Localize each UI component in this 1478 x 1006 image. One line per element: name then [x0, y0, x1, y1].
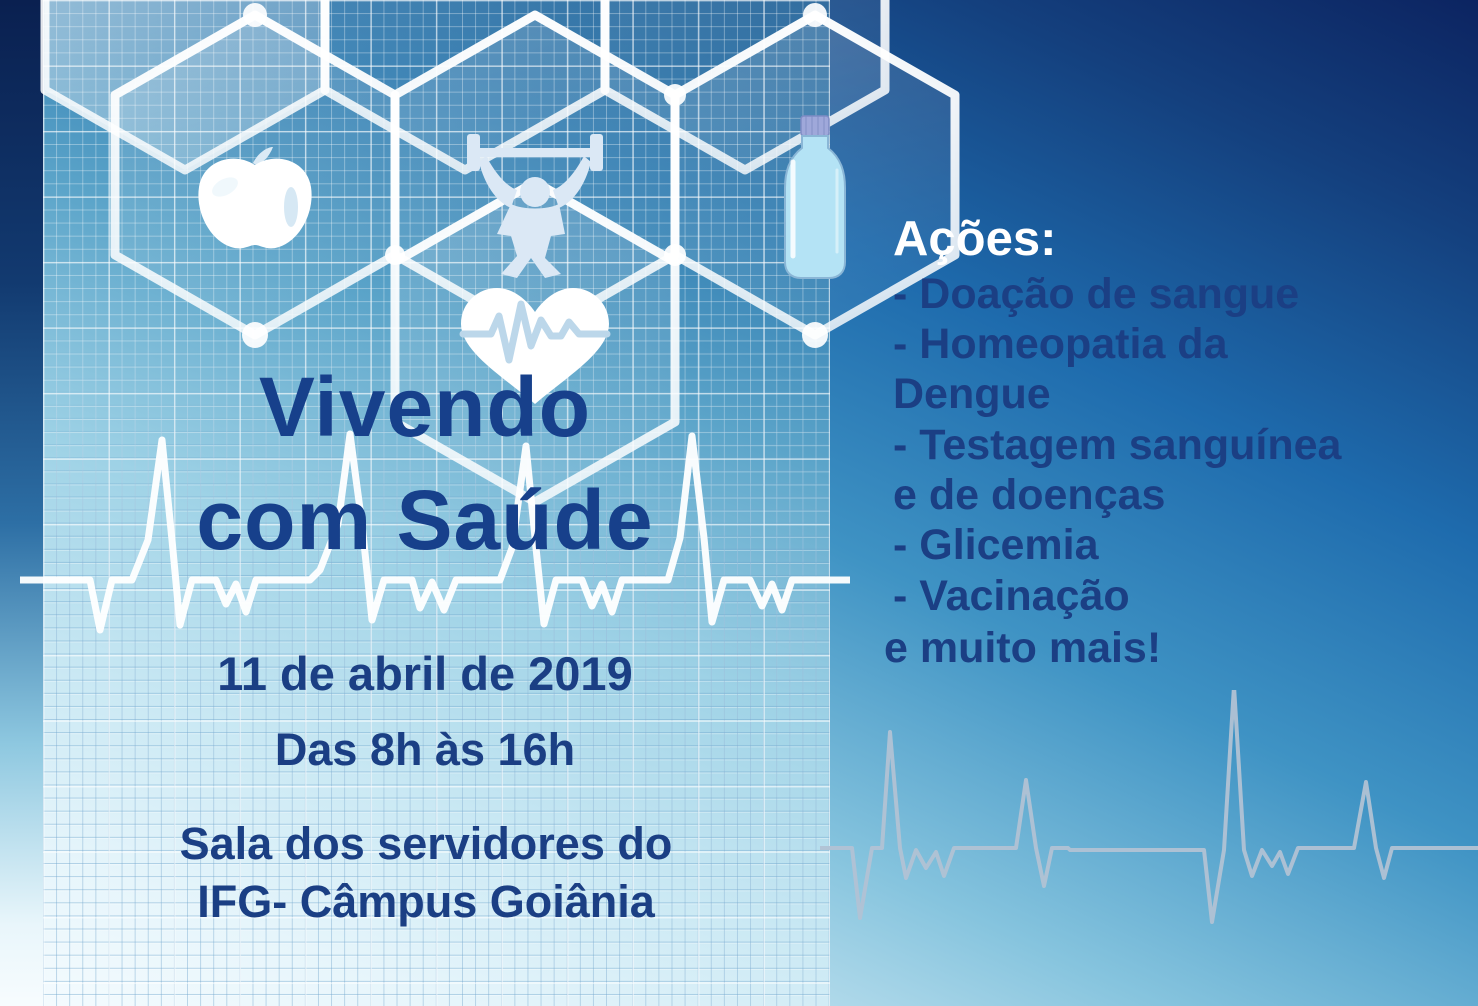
title-line-1: Vivendo: [60, 348, 790, 467]
location-line-2: IFG- Câmpus Goiânia: [56, 873, 796, 931]
ecg-waveform-right: [820, 690, 1478, 980]
event-date: 11 de abril de 2019: [60, 648, 790, 701]
location-line-1: Sala dos servidores do: [56, 815, 796, 873]
title-line-2: com Saúde: [60, 461, 790, 580]
action-item-glycemia: - Glicemia: [893, 520, 1453, 570]
health-event-poster: Vivendo com Saúde 11 de abril de 2019 Da…: [0, 0, 1478, 1006]
poster-title: Vivendo com Saúde: [60, 348, 790, 581]
action-item-vaccination: - Vacinação: [893, 571, 1453, 621]
actions-panel: Ações: - Doação de sangue - Homeopatia d…: [893, 212, 1453, 673]
action-item-blood-donation: - Doação de sangue: [893, 269, 1453, 319]
event-location: Sala dos servidores do IFG- Câmpus Goiân…: [56, 815, 796, 930]
actions-footer: e muito mais!: [884, 623, 1453, 673]
actions-heading: Ações:: [893, 212, 1453, 267]
actions-list: - Doação de sangue - Homeopatia da Dengu…: [893, 269, 1453, 621]
event-datetime: 11 de abril de 2019 Das 8h às 16h: [60, 648, 790, 775]
event-time: Das 8h às 16h: [60, 725, 790, 775]
action-item-blood-testing: - Testagem sanguínea e de doenças: [893, 420, 1453, 521]
action-item-dengue-homeopathy: - Homeopatia da Dengue: [893, 319, 1453, 420]
